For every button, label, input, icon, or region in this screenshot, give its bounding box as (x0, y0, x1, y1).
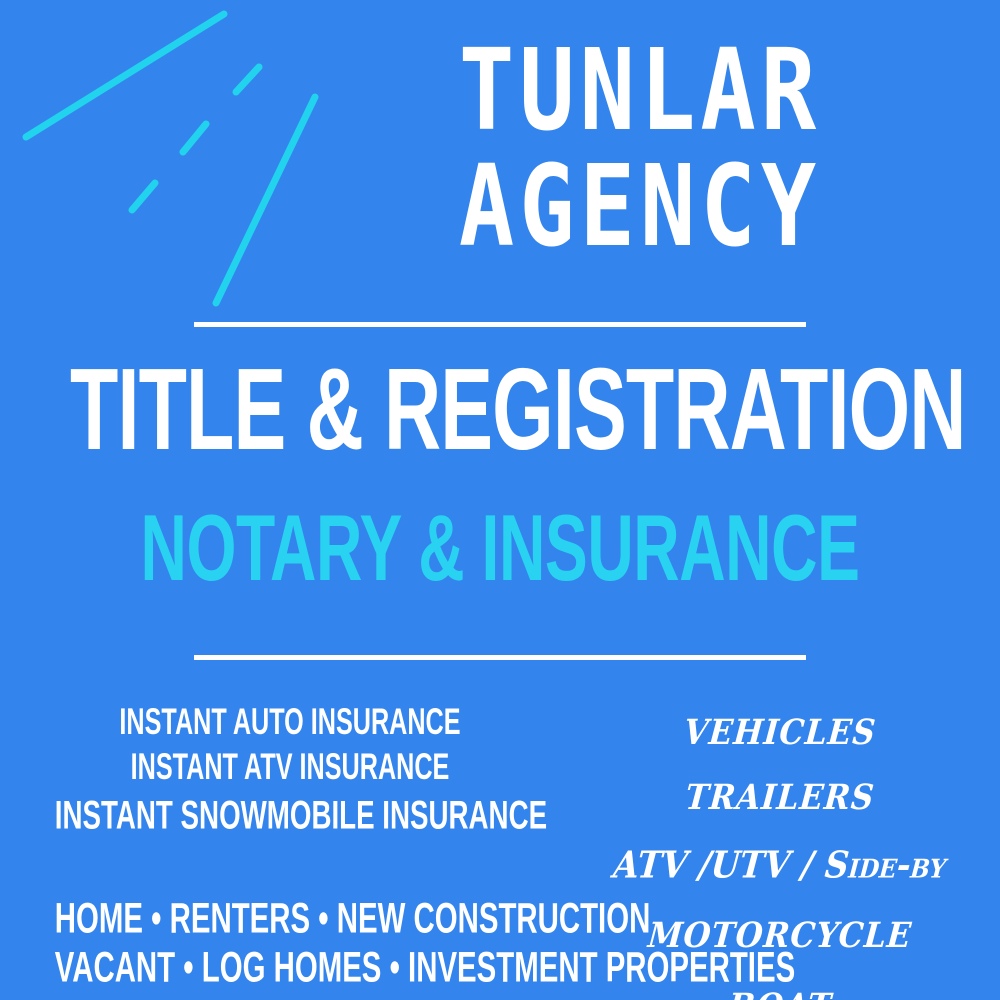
category-item-motorcycle: MOTORCYCLE (578, 919, 981, 954)
brand-line-agency: AGENCY (330, 150, 950, 264)
instant-insurance-list: INSTANT AUTO INSURANCE INSTANT ATV INSUR… (10, 700, 570, 840)
poster-canvas: TUNLAR AGENCY TITLE & REGISTRATION NOTAR… (0, 0, 1000, 1000)
category-item-trailers: TRAILERS (578, 781, 981, 816)
long-stroke-upper-left (26, 14, 224, 137)
short-stroke-mid (183, 124, 206, 152)
category-item-boat: BOAT (578, 990, 981, 1000)
category-item-vehicles: VEHICLES (578, 716, 981, 751)
services-left-column: INSTANT AUTO INSURANCE INSTANT ATV INSUR… (10, 700, 570, 993)
service-item-instant-snowmobile: INSTANT SNOWMOBILE INSURANCE (55, 785, 525, 845)
service-item-vacant-loghomes-investment: VACANT • LOG HOMES • INVESTMENT PROPERTI… (55, 938, 525, 999)
brand-line-tunlar: TUNLAR (330, 34, 950, 148)
divider-bottom (194, 655, 806, 660)
property-insurance-list: HOME • RENTERS • NEW CONSTRUCTION VACANT… (10, 894, 570, 993)
short-stroke-low (132, 183, 155, 210)
categories-right-column: VEHICLES TRAILERS ATV /UTV / Side-by MOT… (580, 700, 980, 1000)
long-stroke-right (216, 97, 315, 303)
category-item-atv-utv-sideby: ATV /UTV / Side-by (578, 846, 981, 883)
headline-notary-insurance: NOTARY & INSURANCE (60, 502, 940, 595)
divider-top (194, 322, 806, 327)
brand-logo: TUNLAR AGENCY (330, 34, 950, 244)
short-stroke-top (236, 67, 259, 92)
headline-title-registration: TITLE & REGISTRATION (70, 352, 930, 468)
